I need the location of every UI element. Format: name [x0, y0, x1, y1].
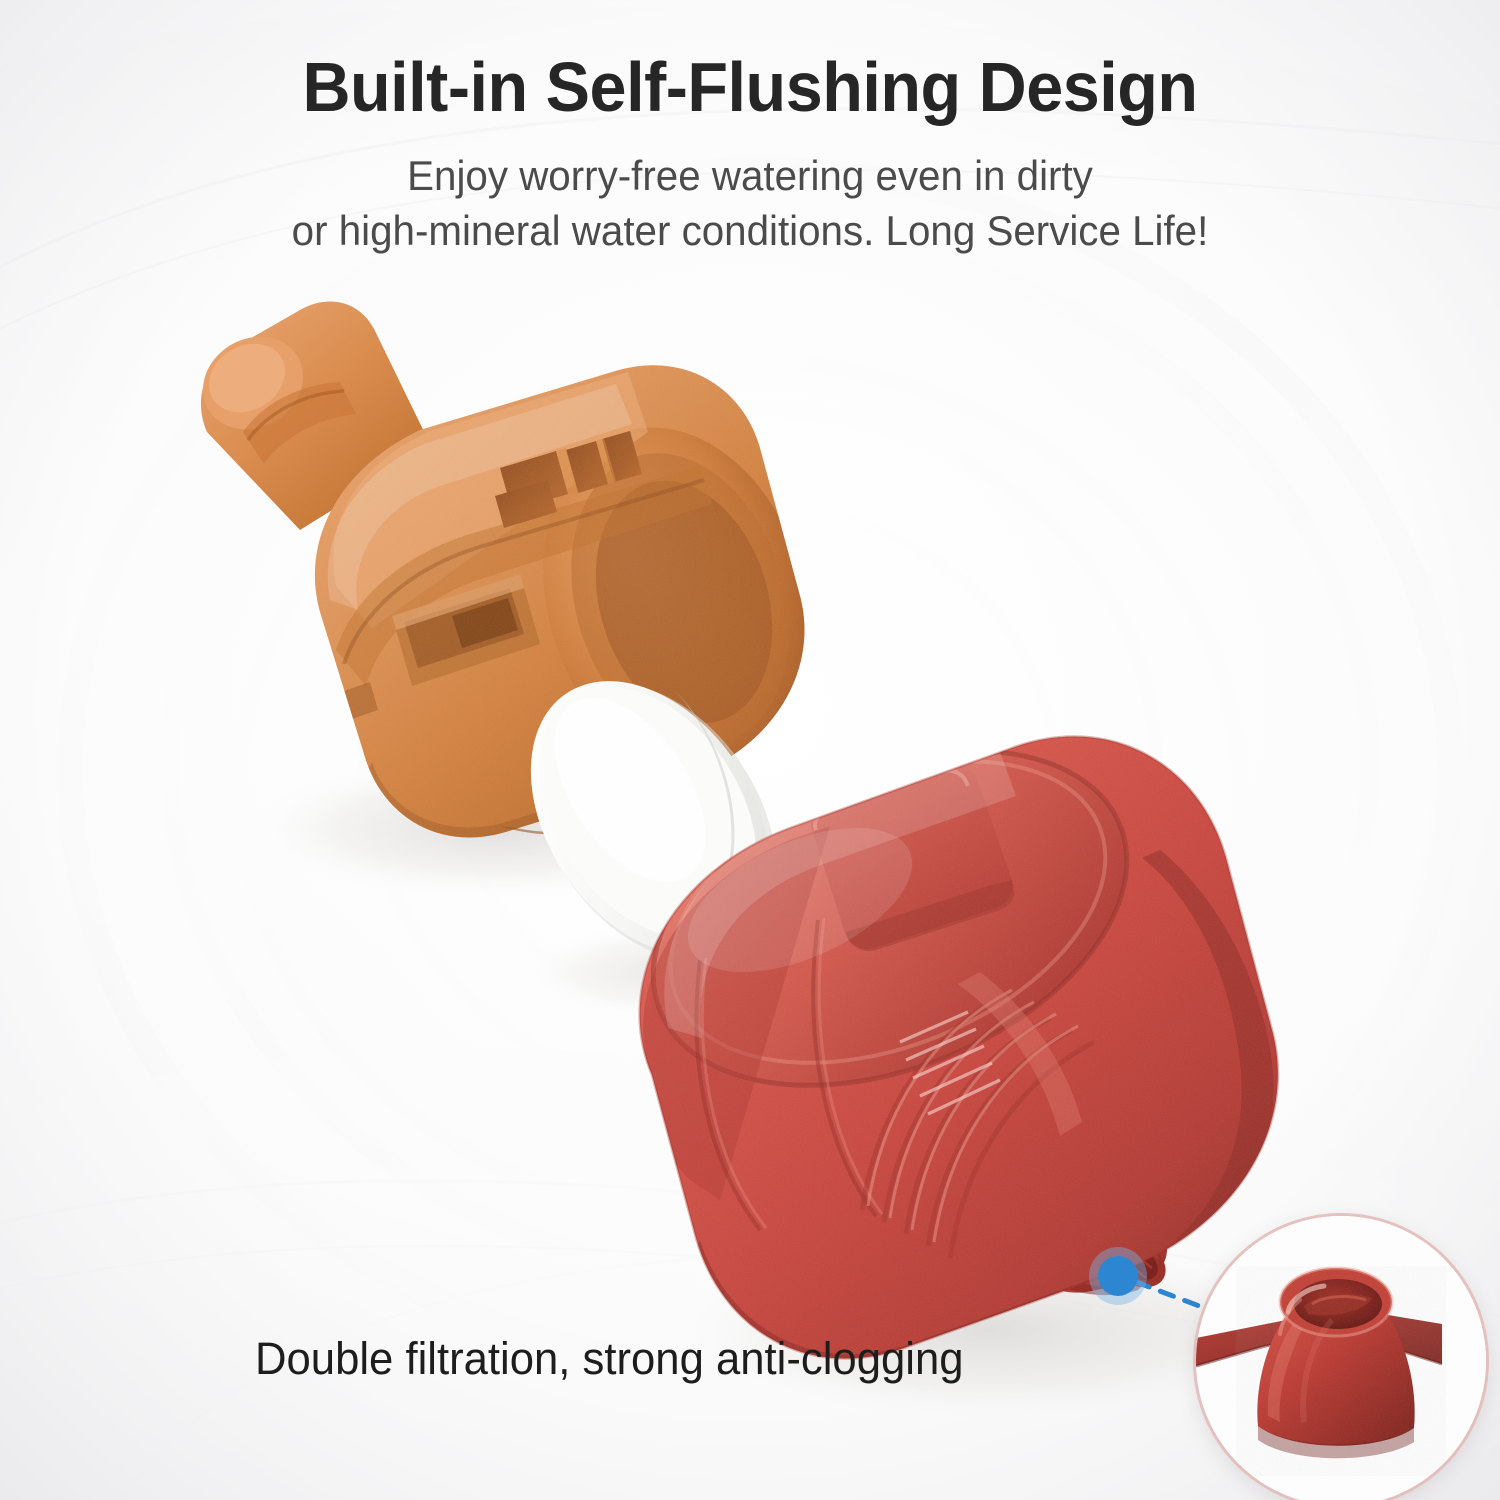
subtitle-line-1: Enjoy worry-free watering even in dirty [30, 148, 1470, 203]
subtitle-line-2: or high-mineral water conditions. Long S… [30, 203, 1470, 258]
page-title: Built-in Self-Flushing Design [38, 52, 1463, 123]
product-feature-image: Built-in Self-Flushing Design Enjoy worr… [0, 0, 1500, 1500]
callout-focus-dot [1098, 1256, 1138, 1296]
subtitle: Enjoy worry-free watering even in dirty … [30, 148, 1470, 259]
feature-caption: Double filtration, strong anti-clogging [255, 1333, 964, 1385]
magnifier-content [1196, 1216, 1486, 1500]
nozzle-detail-magnifier [1196, 1216, 1486, 1500]
